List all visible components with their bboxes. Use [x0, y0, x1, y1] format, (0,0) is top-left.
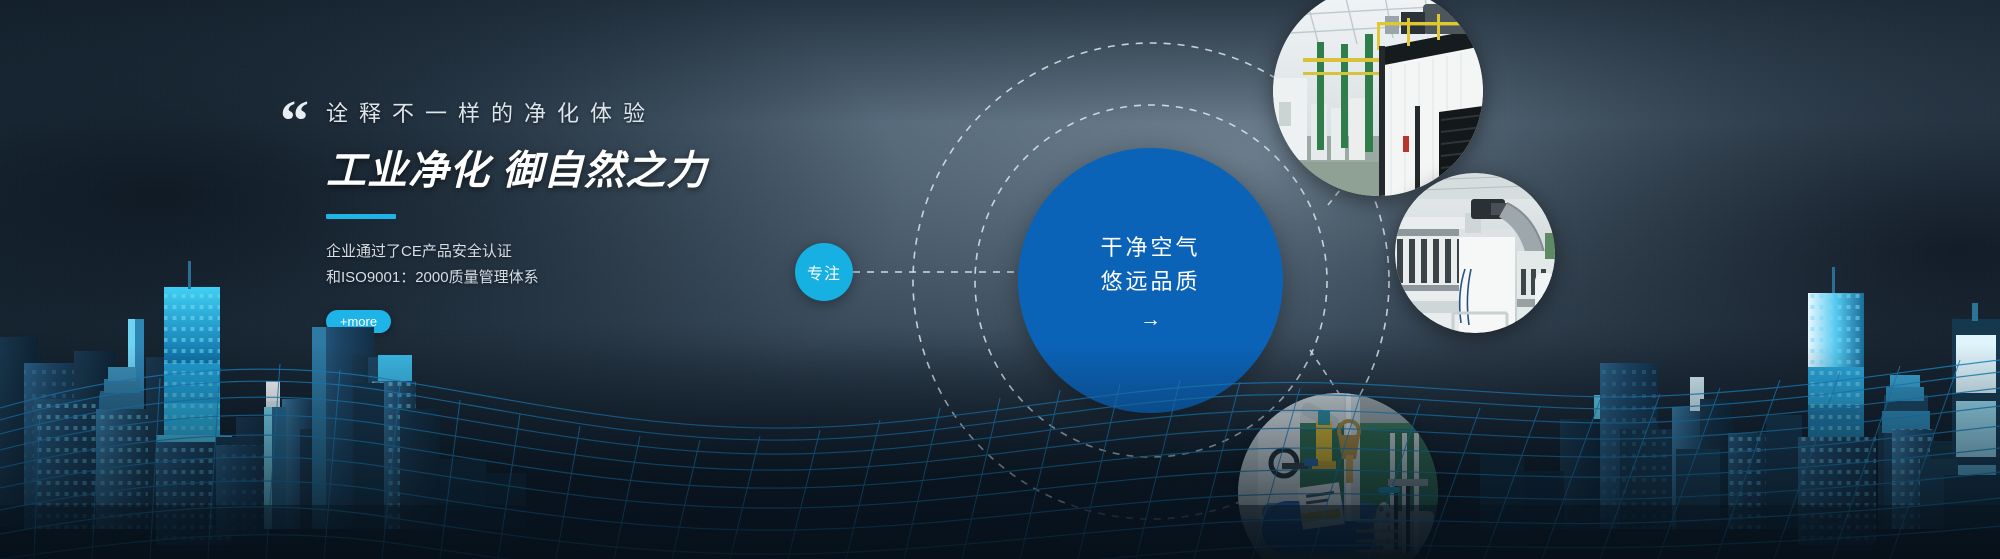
hero-kicker: 诠释不一样的净化体验 [326, 96, 860, 128]
wireframe-terrain [0, 344, 2000, 559]
hero-banner: “ 诠释不一样的净化体验 工业净化 御自然之力 企业通过了CE产品安全认证 和I… [0, 0, 2000, 559]
headline-underline [326, 214, 396, 219]
quote-mark-icon: “ [280, 92, 307, 150]
hero-headline: 工业净化 御自然之力 [326, 138, 860, 196]
